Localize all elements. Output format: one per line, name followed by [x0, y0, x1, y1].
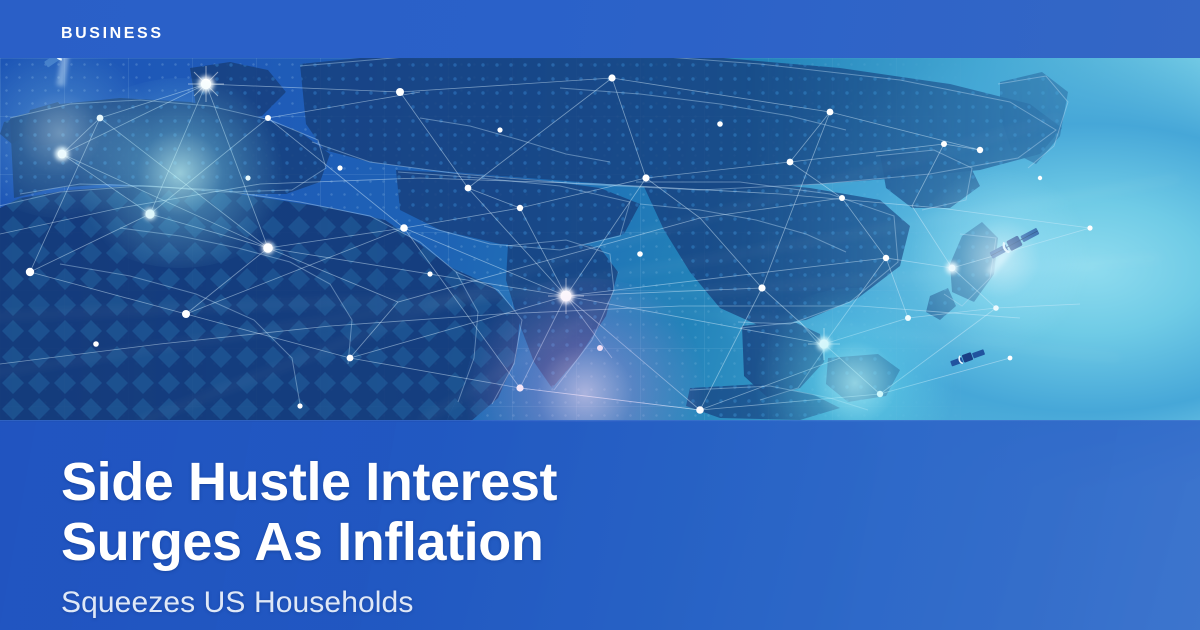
social-share-card: BUSINESS Side Hustle Interest Surges As … — [0, 0, 1200, 630]
headline-panel-top-edge — [0, 420, 1200, 421]
headline-line-1: Side Hustle Interest — [61, 452, 821, 512]
world-map-svg — [0, 58, 1200, 422]
landmasses — [0, 58, 1068, 422]
headline: Side Hustle Interest Surges As Inflation — [61, 452, 821, 572]
subheadline: Squeezes US Households — [61, 586, 821, 620]
category-bar — [0, 0, 1200, 58]
satellite-mid-icon — [950, 348, 986, 368]
headline-line-2: Surges As Inflation — [61, 512, 821, 572]
category-bar-tint — [0, 0, 1200, 58]
category-kicker-label[interactable]: BUSINESS — [61, 26, 164, 42]
hero-map-band — [0, 58, 1200, 422]
satellite-left-icon — [43, 58, 101, 86]
